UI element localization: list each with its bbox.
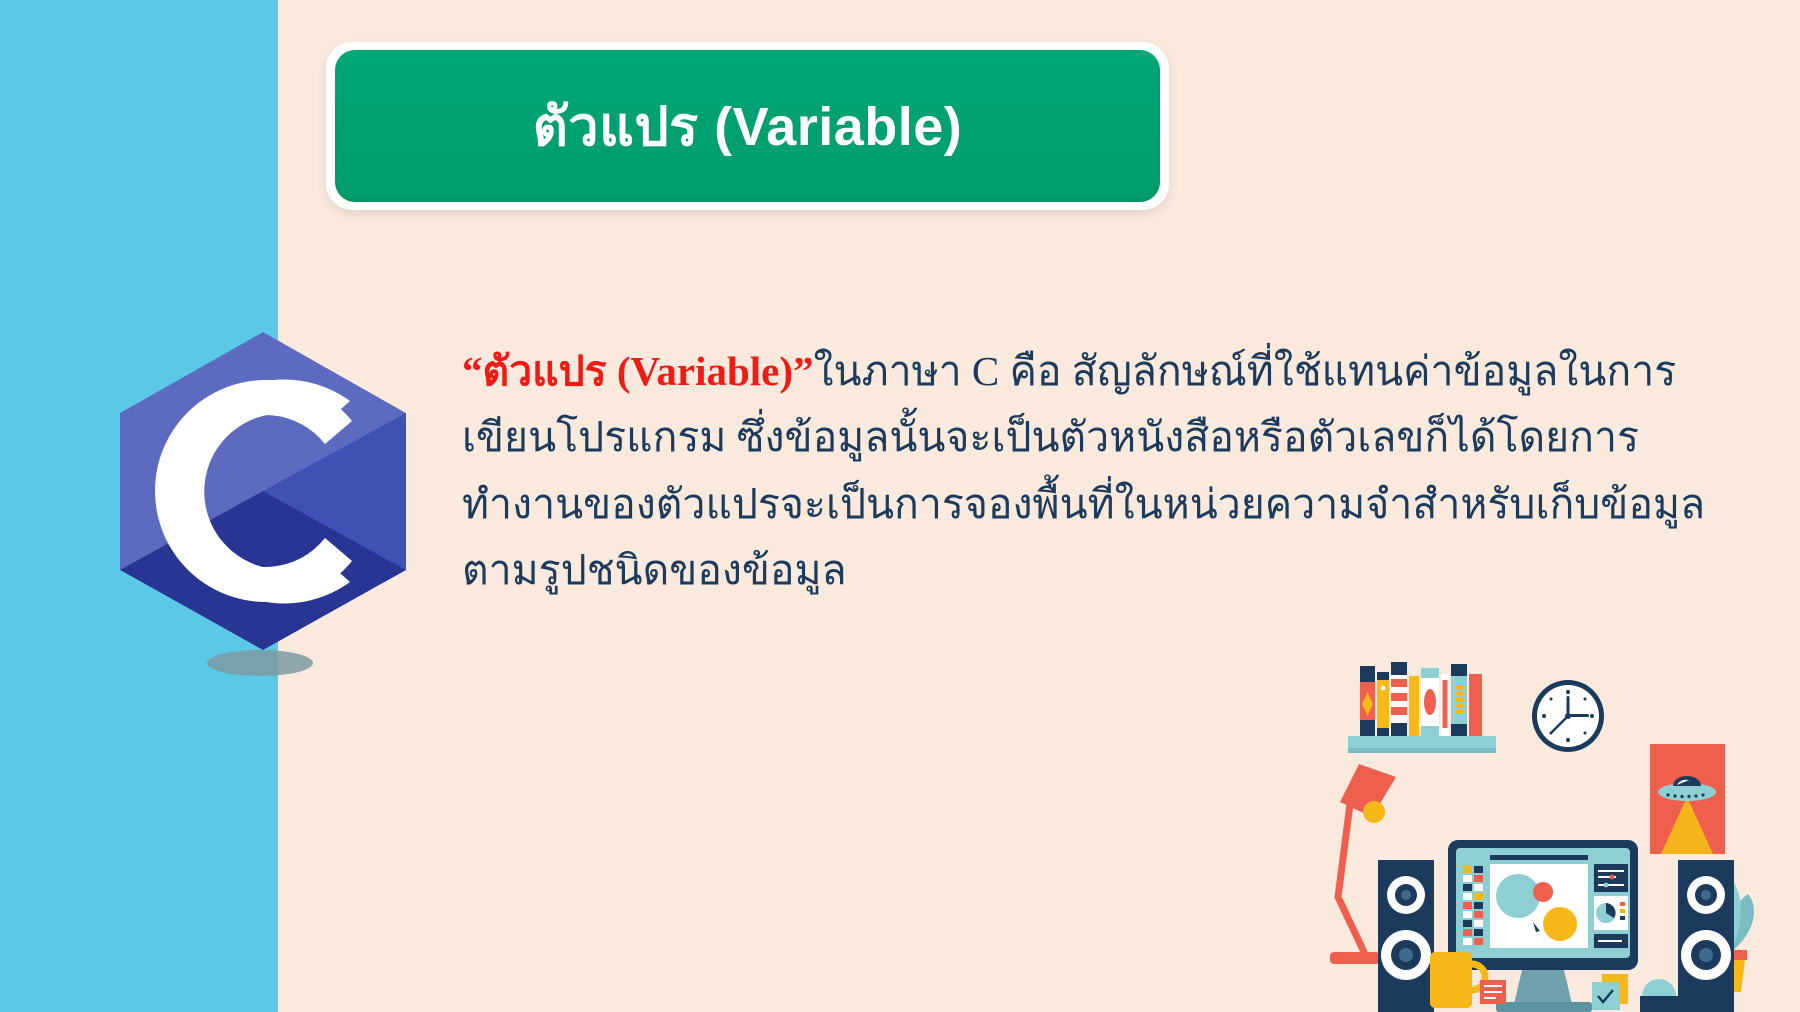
c-language-logo — [118, 330, 408, 652]
body-paragraph: “ตัวแปร (Variable)”ในภาษา C คือ สัญลักษณ… — [462, 338, 1752, 604]
title-banner: ตัวแปร (Variable) — [326, 42, 1169, 210]
highlighted-term: “ตัวแปร (Variable)” — [462, 348, 814, 394]
slide: ตัวแปร (Variable) “ตัวแปร (V — [0, 0, 1800, 1012]
workspace-illustration — [1330, 652, 1800, 1012]
page-title: ตัวแปร (Variable) — [533, 83, 963, 169]
title-banner-fill: ตัวแปร (Variable) — [335, 50, 1160, 202]
logo-ground-shadow — [207, 650, 313, 676]
